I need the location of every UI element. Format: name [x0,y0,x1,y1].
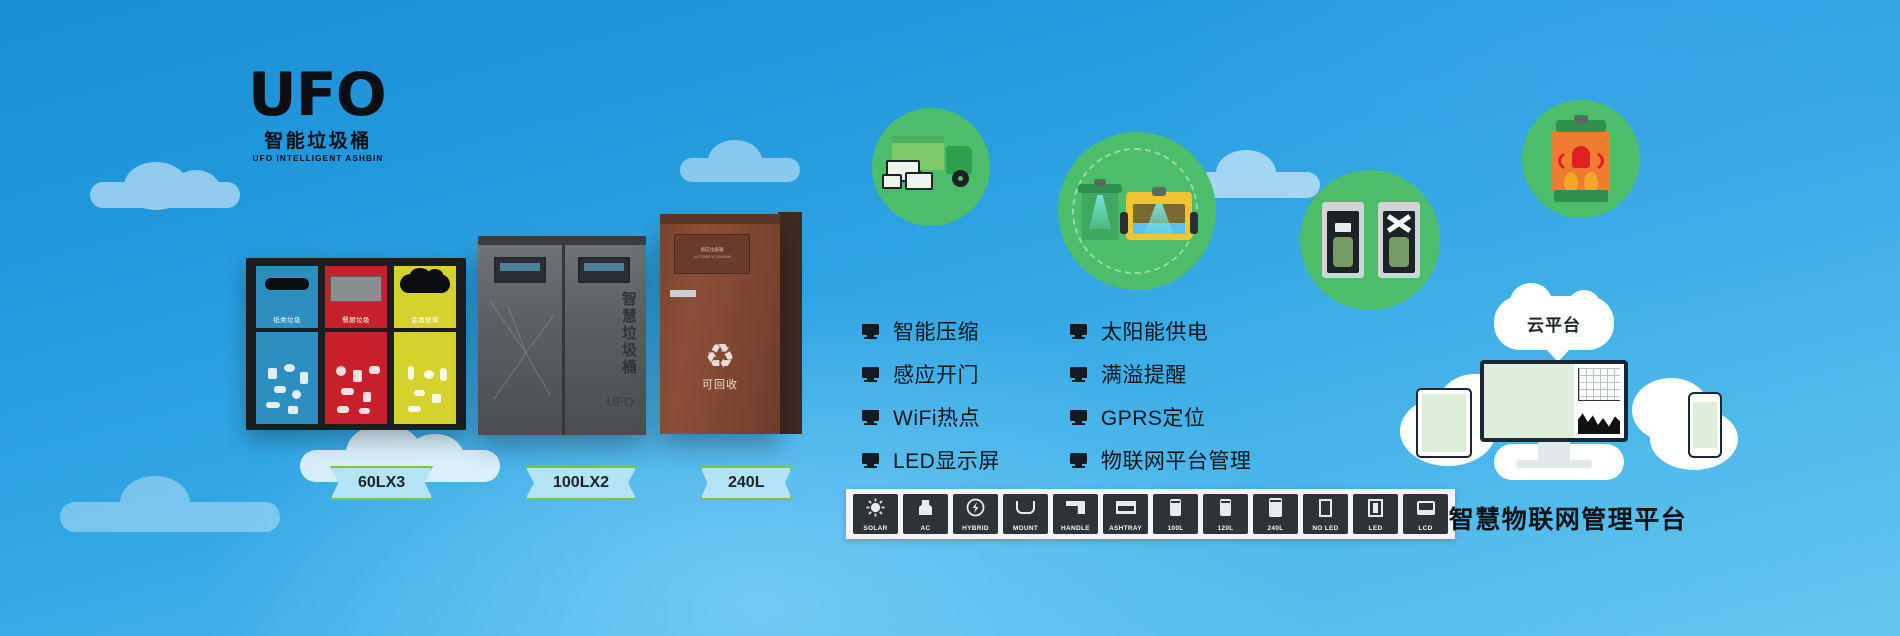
feature-item: 感应开门 [862,359,1000,389]
spec-label: NO LED [1303,525,1348,532]
chart-dashboard [1574,364,1624,438]
spec-label: HANDLE [1053,525,1098,532]
bin-logo-text: UFO [607,394,634,409]
feature-list: 智能压缩 感应开门 WiFi热点 LED显示屏 太阳能供电 满溢提醒 [862,316,1251,475]
handle-icon [1053,497,1098,518]
monitor-screen [1484,364,1624,438]
spec-240l: 240L [1253,494,1298,534]
feature-item: 智能压缩 [862,316,1000,346]
spec-120l: 120L [1203,494,1248,534]
bin-side-panel [778,212,802,434]
feature-circle-smart-collection-vehicle [872,108,990,226]
desktop-monitor [1480,360,1628,442]
feature-label: 感应开门 [893,359,979,389]
garbage-truck-icon [872,108,990,226]
monitor-icon [1070,367,1087,382]
led-strip-icon [1353,497,1398,518]
feature-circle-waste-compression [1300,170,1440,310]
texture-overlay [486,295,558,405]
bin-divider [562,243,565,435]
feature-item: 物联网平台管理 [1070,445,1252,475]
capacity-ribbon-60lx3: 60LX3 [330,466,433,500]
plaque-line-2: AUTOMATIC ASHBIN [675,255,749,259]
monitor-icon [862,324,879,339]
spec-label: LED [1353,525,1398,532]
feature-circle-fill-level-sensing [1058,132,1216,290]
monitor-icon [862,453,879,468]
product-three-compartment-bin: 纸类垃圾 餐厨垃圾 [246,258,466,430]
logo-chinese-text: 智能垃圾桶 [248,126,388,153]
capacity-ribbon-240l: 240L [700,466,792,500]
cloud-platform-label: 云平台 [1527,311,1581,336]
feature-label: 物联网平台管理 [1101,445,1252,475]
bin-body: 智慧垃圾桶 UFO [478,243,646,435]
compartment-top: 金属玻璃 [394,266,456,328]
bin-label-strip [670,290,696,297]
feature-circle-fire-smoke-alarm [1522,100,1640,218]
monitor-icon [1070,324,1087,339]
blank-panel-icon [1303,497,1348,518]
plaque-line-1: 感应垃圾箱 [675,247,749,253]
spec-solar: SOLAR [853,494,898,534]
spec-label: 120L [1203,525,1248,532]
logo-english-tagline: UFO INTELLIGENT ASHBIN [248,154,388,163]
feature-item: GPRS定位 [1070,402,1252,432]
spec-label: HYBRID [953,525,998,532]
fire-alarm-bin-icon [1522,100,1640,218]
area-chart [1578,407,1620,434]
feature-column-right: 太阳能供电 满溢提醒 GPRS定位 物联网平台管理 [1070,316,1252,475]
cloud-decoration [680,140,830,190]
spec-label: 240L [1253,525,1298,532]
tablet-device [1416,388,1472,458]
bin-window-right [578,257,630,283]
compartment-label: 餐厨垃圾 [325,314,387,324]
cloud-slot-icon [400,274,450,293]
spec-handle: HANDLE [1053,494,1098,534]
spec-100l: 100L [1153,494,1198,534]
spec-label: ASHTRAY [1103,525,1148,532]
product-single-recycle-bin: 感应垃圾箱 AUTOMATIC ASHBIN ♻ 可回收 [660,222,780,434]
mount-icon [1003,497,1048,518]
plug-icon [903,497,948,518]
monitor-icon [1070,410,1087,425]
feature-column-left: 智能压缩 感应开门 WiFi热点 LED显示屏 [862,316,1000,475]
feature-label: 满溢提醒 [1101,359,1187,389]
iot-platform-illustration [1398,352,1738,492]
bin-compartment-metal-glass: 金属玻璃 [394,266,456,424]
feature-label: WiFi热点 [893,402,980,432]
feature-label: 太阳能供电 [1101,316,1209,346]
monitor-icon [862,410,879,425]
waste-illustration [331,360,381,416]
platform-title: 智慧物联网管理平台 [1398,500,1738,536]
bin-compartment-paper: 纸类垃圾 [256,266,318,424]
bin-icon [1253,497,1298,518]
compartment-body [394,332,456,424]
spec-label: MOUNT [1003,525,1048,532]
recycle-label: 可回收 [660,376,780,392]
feature-label: GPRS定位 [1101,402,1206,432]
spec-ac: AC [903,494,948,534]
feature-item: 满溢提醒 [1070,359,1252,389]
spec-no-led: NO LED [1303,494,1348,534]
feature-label: 智能压缩 [893,316,979,346]
waste-illustration [400,360,450,416]
sun-icon [853,497,898,518]
compartment-top: 纸类垃圾 [256,266,318,328]
logo-wordmark: UFO [248,62,388,124]
bolt-icon [953,497,998,518]
monitor-icon [862,367,879,382]
waste-illustration [262,360,312,416]
spec-mount: MOUNT [1003,494,1048,534]
compartment-label: 金属玻璃 [394,314,456,324]
line-chart [1578,368,1620,401]
recycle-icon: ♻ [660,340,780,374]
monitor-icon [1070,453,1087,468]
recycle-marking: ♻ 可回收 [660,340,780,392]
monitor-base [1516,460,1592,468]
phone-screen [1693,402,1717,448]
feature-label: LED显示屏 [893,445,1000,475]
spec-label: SOLAR [853,525,898,532]
spec-label: 100L [1153,525,1198,532]
spec-ashtray: ASHTRAY [1103,494,1148,534]
brand-logo: UFO 智能垃圾桶 UFO INTELLIGENT ASHBIN [248,62,388,163]
oval-slot-icon [265,278,309,290]
compartment-label: 纸类垃圾 [256,314,318,324]
spec-icon-strip: SOLAR AC HYBRID MOUNT HANDLE ASHTRAY [846,489,1455,539]
compartment-top: 餐厨垃圾 [325,266,387,328]
cloud-decoration [60,470,320,540]
product-dual-compartment-bin: 智慧垃圾桶 UFO [478,243,646,435]
compartment-body [256,332,318,424]
logo-text: UFO [248,66,386,124]
ashtray-icon [1103,497,1148,518]
feature-item: 太阳能供电 [1070,316,1252,346]
map-dashboard [1484,364,1574,438]
bin-screen-plaque: 感应垃圾箱 AUTOMATIC ASHBIN [674,234,750,274]
bin-compartment-kitchen: 餐厨垃圾 [325,266,387,424]
spec-led: LED [1353,494,1398,534]
bin-body: 感应垃圾箱 AUTOMATIC ASHBIN ♻ 可回收 [660,222,780,434]
banner-image: UFO 智能垃圾桶 UFO INTELLIGENT ASHBIN 纸类垃圾 [0,0,1900,636]
bin-vertical-text: 智慧垃圾桶 [618,291,638,376]
bin-lid [660,214,780,224]
ultrasonic-sensor-bin-icon [1058,132,1216,290]
bin-icon [1203,497,1248,518]
feature-item: WiFi热点 [862,402,1000,432]
monitor-stand [1538,442,1570,462]
spec-label: AC [903,525,948,532]
cloud-decoration [90,160,290,220]
tablet-screen [1422,394,1466,452]
lcd-panel-icon [330,276,382,302]
spec-hybrid: HYBRID [953,494,998,534]
smartphone-device [1688,392,1722,458]
compartment-body [325,332,387,424]
compression-bins-icon [1300,170,1440,310]
feature-item: LED显示屏 [862,445,1000,475]
bin-icon [1153,497,1198,518]
capacity-ribbon-100lx2: 100LX2 [525,466,637,500]
bin-window-left [494,257,546,283]
